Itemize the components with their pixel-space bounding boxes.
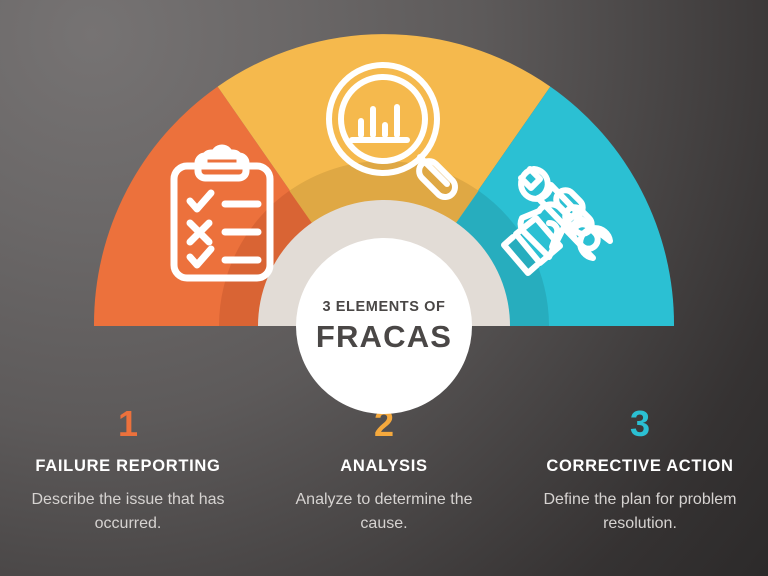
- column-number-1: 1: [118, 406, 138, 442]
- center-subtitle: 3 ELEMENTS OF: [322, 300, 445, 315]
- column-number-3: 3: [630, 406, 650, 442]
- center-title: FRACAS: [316, 321, 452, 352]
- center-badge: 3 ELEMENTS OF FRACAS: [296, 238, 472, 414]
- column-title-2: ANALYSIS: [340, 458, 428, 475]
- column-corrective-action: 3 CORRECTIVE ACTION Define the plan for …: [512, 406, 768, 536]
- column-title-1: FAILURE REPORTING: [35, 458, 220, 475]
- column-title-3: CORRECTIVE ACTION: [546, 458, 733, 475]
- column-description-3: Define the plan for problem resolution.: [533, 488, 748, 536]
- infographic-canvas: 3 ELEMENTS OF FRACAS 1 FAILURE REPORTING…: [0, 0, 768, 576]
- elements-columns: 1 FAILURE REPORTING Describe the issue t…: [0, 406, 768, 536]
- column-analysis: 2 ANALYSIS Analyze to determine the caus…: [256, 406, 512, 536]
- column-description-1: Describe the issue that has occurred.: [21, 488, 236, 536]
- column-description-2: Analyze to determine the cause.: [277, 488, 492, 536]
- column-failure-reporting: 1 FAILURE REPORTING Describe the issue t…: [0, 406, 256, 536]
